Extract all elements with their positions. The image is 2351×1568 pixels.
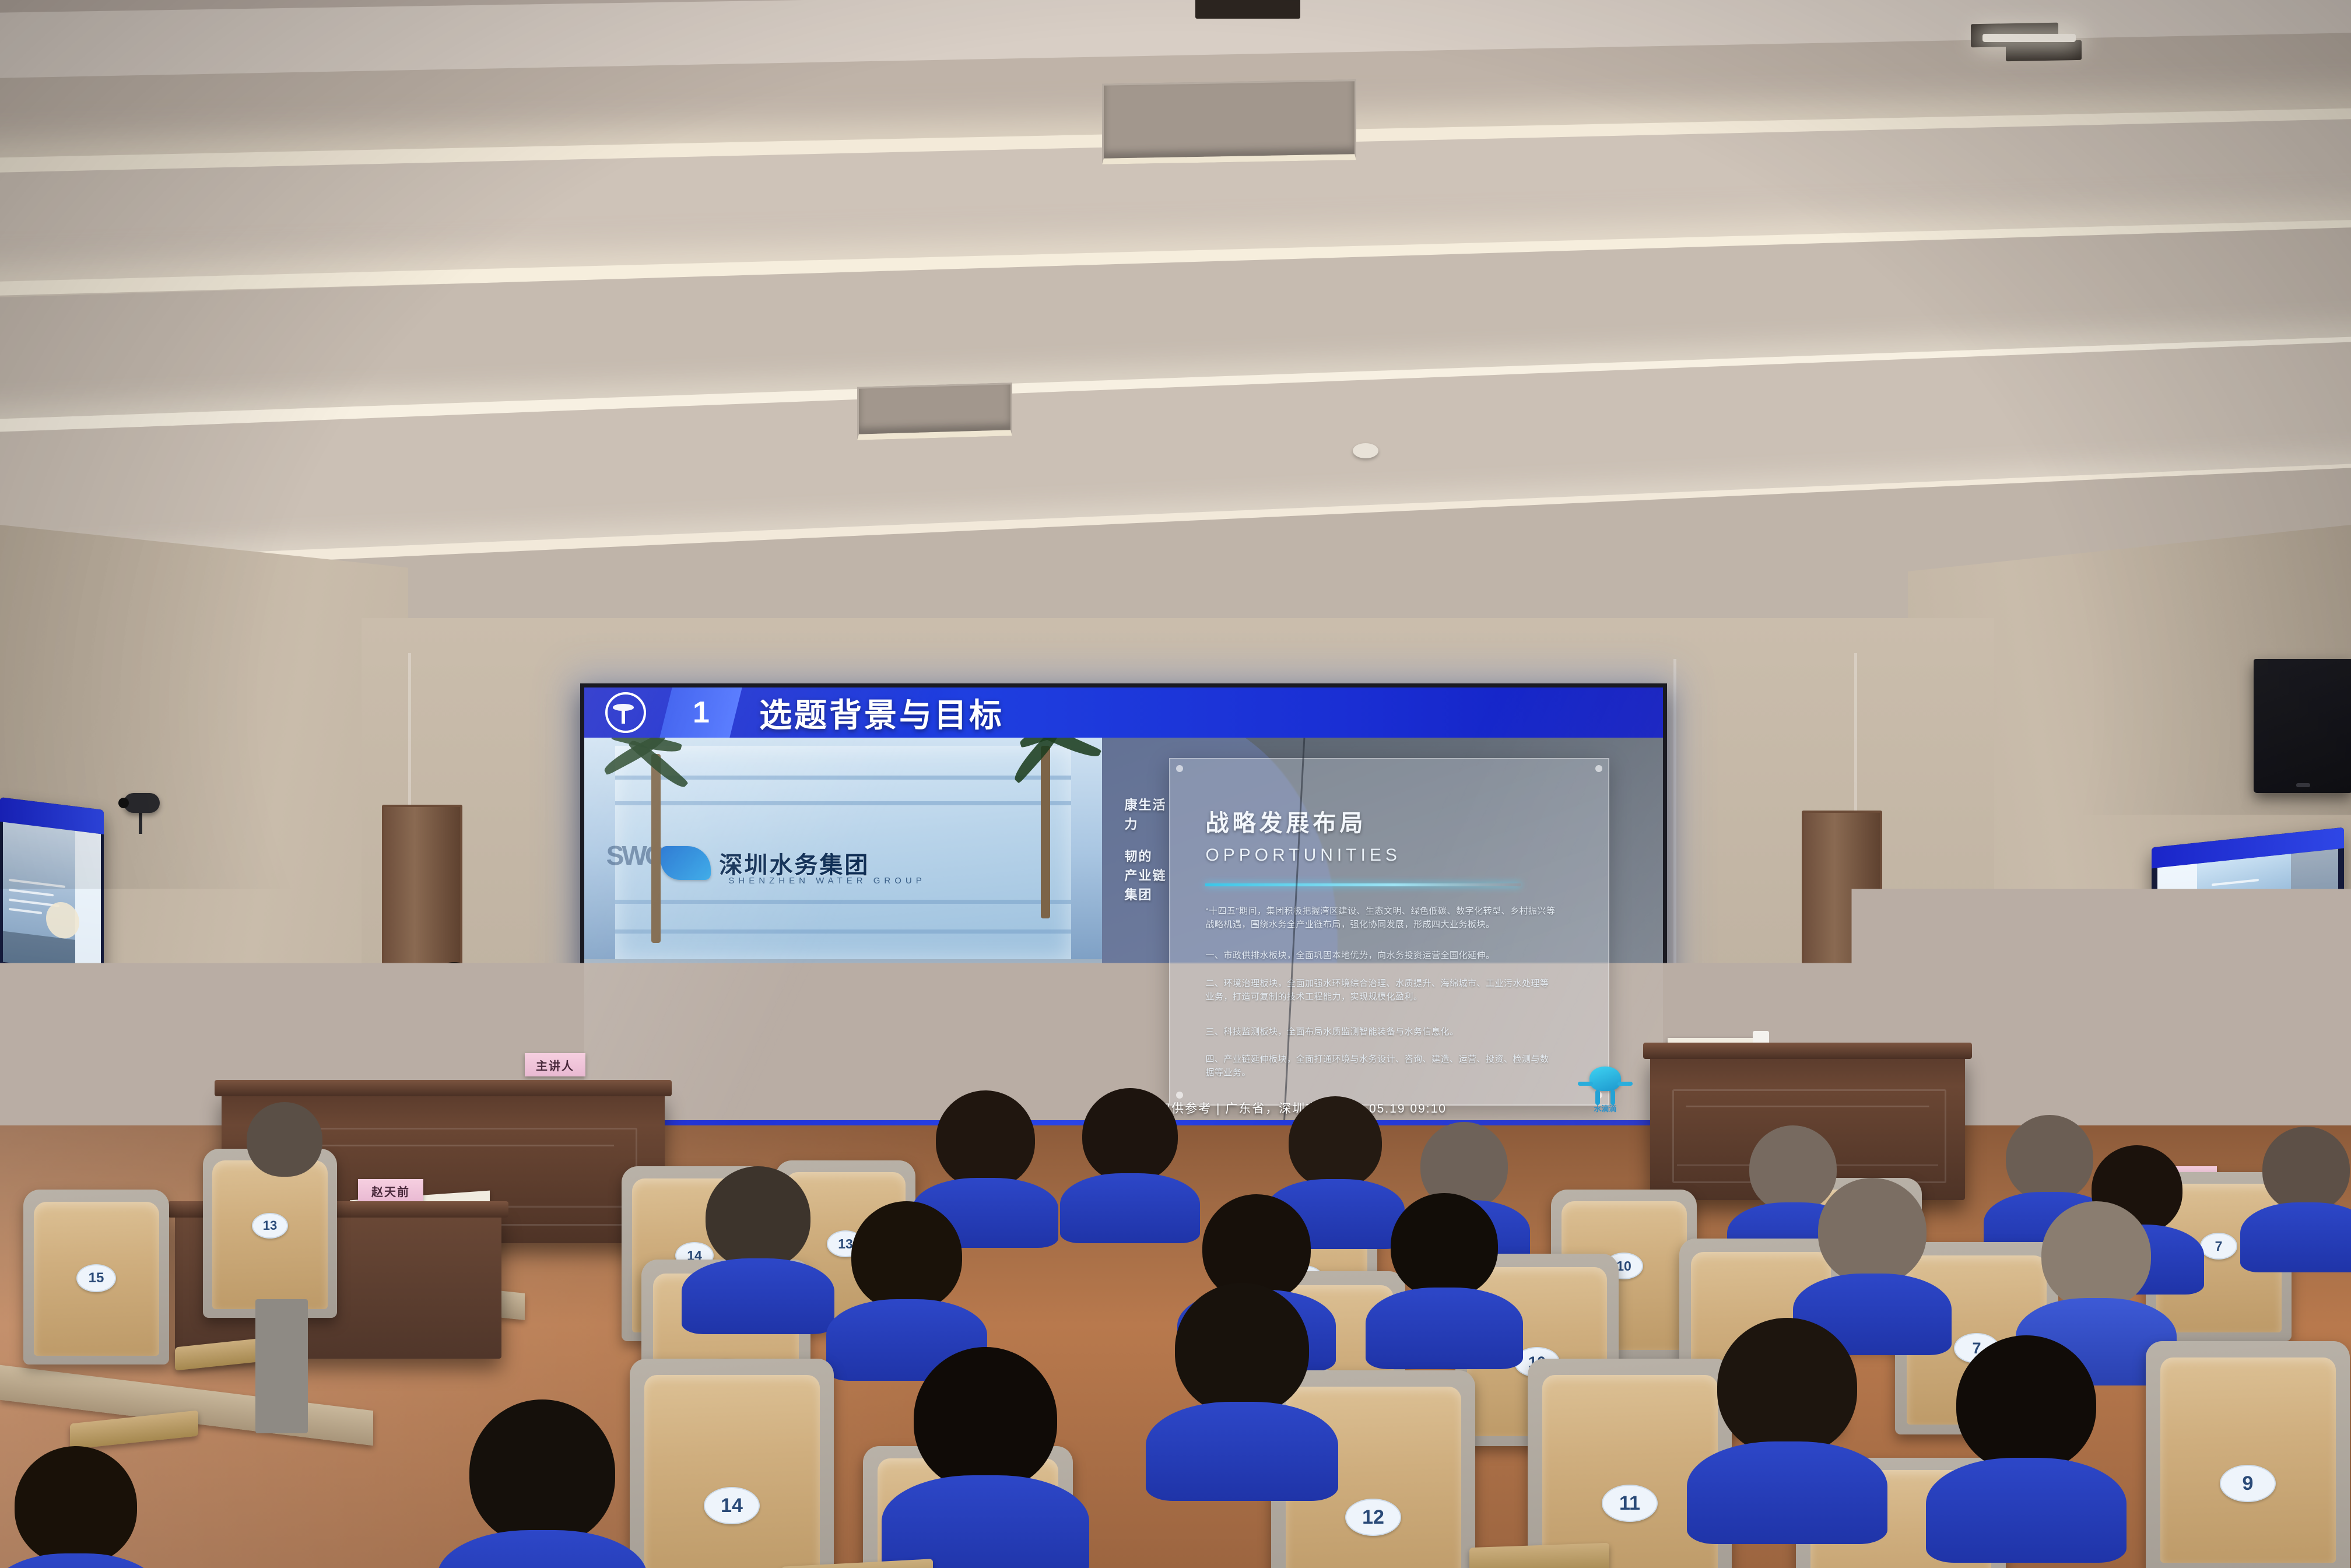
seat-number: 7 (2215, 1239, 2223, 1254)
seat-number: 10 (1616, 1258, 1631, 1274)
slide-content: 1 选题背景与目标 SWG 深圳水务集团 (584, 687, 1663, 1148)
ceiling-vent (857, 383, 1012, 440)
seat-number-badge: 11 (1602, 1485, 1658, 1522)
presenter-name-card: 主讲人 (525, 1053, 585, 1076)
seat-number-badge: 14 (704, 1487, 760, 1524)
building-sign-cn: 深圳水务集团 (719, 846, 869, 880)
seat-number: 14 (721, 1495, 743, 1517)
seat-number: 15 (89, 1270, 104, 1286)
left-wall-monitor[interactable] (0, 797, 104, 985)
attendee-name-card: 赵天前 (358, 1179, 423, 1202)
ceiling-vent (1102, 79, 1356, 164)
building-signage: 深圳水务集团 SHENZHEN WATER GROUP (661, 832, 1025, 896)
ceiling-spotlight (1982, 34, 2076, 42)
strategy-paragraph: 二、环境治理板块，全面加强水环境综合治理、水质提升、海绵城市、工业污水处理等业务… (1205, 977, 1555, 1004)
seat[interactable]: 14 (630, 1359, 834, 1568)
seat-number-badge: 15 (76, 1264, 116, 1292)
attendee (238, 1102, 331, 1219)
slide-section-title: 选题背景与目标 (759, 689, 1004, 736)
ceiling-recess (1195, 0, 1300, 19)
strategy-title-cn: 战略发展布局 (1205, 804, 1366, 838)
seat-number-badge: 7 (2200, 1233, 2237, 1260)
conference-hall-photo: 1 选题背景与目标 SWG 深圳水务集团 (0, 0, 2351, 1568)
building-sign-en: SHENZHEN WATER GROUP (728, 876, 925, 886)
strategy-paragraph: 一、市政供排水板块，全面巩固本地优势，向水务投资运营全国化延伸。 (1205, 949, 1555, 962)
seat-number: 12 (1362, 1506, 1384, 1529)
slide-body: SWG 深圳水务集团 SHENZHEN WATER GROUP (584, 738, 1663, 1148)
attendee (1160, 1283, 1324, 1481)
attendee (1377, 1193, 1511, 1368)
presenter-name-card-text: 主讲人 (536, 1057, 574, 1074)
seat-number: 9 (2243, 1472, 2254, 1495)
smoke-detector (1353, 443, 1378, 458)
seat[interactable]: 15 (23, 1190, 169, 1364)
attendee (694, 1166, 822, 1330)
microphone-head (487, 1025, 498, 1036)
slide-section-number: 1 (693, 695, 710, 730)
seat[interactable]: 9 (2146, 1341, 2350, 1568)
water-drop-logo-icon (661, 846, 711, 880)
ceiling-camera (124, 793, 160, 813)
mascot-label: 水滴滴 (1585, 1103, 1626, 1114)
wall-speaker (2254, 659, 2351, 793)
seat-side-panel (255, 1299, 308, 1433)
armrest (1469, 1543, 1609, 1568)
strategy-paragraph: 四、产业链延伸板块，全面打通环境与水务设计、咨询、建造、运营、投资、检测与数据等… (1205, 1053, 1555, 1080)
seat-number: 11 (1619, 1492, 1640, 1515)
ceiling-recess (2006, 40, 2082, 61)
strategy-plaque: 战略发展布局 OPPORTUNITIES “十四五”期间，集团积极把握湾区建设、… (1169, 758, 1609, 1105)
seat-number: 13 (263, 1218, 277, 1233)
palm-fronds (600, 738, 717, 817)
shenzhen-water-group-logo-icon (605, 692, 646, 733)
right-wall-monitor[interactable] (2152, 827, 2344, 998)
slide-strategy-panel: 康生活 力 韧的 产业链 集团 战略发展布局 OPPORTUNITIES (1102, 738, 1663, 1148)
strategy-paragraph: 三、科技监测板块，全面布局水质监测智能装备与水务信息化。 (1205, 1025, 1555, 1039)
attendee-name-card-text: 赵天前 (371, 1183, 410, 1199)
title-underline (1205, 883, 1520, 886)
attendee (898, 1347, 1073, 1557)
attendee (0, 1446, 152, 1568)
strategy-title-en: OPPORTUNITIES (1205, 846, 1401, 865)
seat-number-badge: 12 (1345, 1499, 1401, 1536)
water-mascot-icon: 水滴滴 (1585, 1067, 1626, 1112)
attendee (1072, 1088, 1188, 1240)
attendee (455, 1399, 630, 1568)
attendee (1831, 1236, 1982, 1429)
attendee (2251, 1127, 2351, 1272)
projection-screen: 1 选题背景与目标 SWG 深圳水务集团 (580, 683, 1667, 1152)
strategy-paragraph: “十四五”期间，集团积极把握湾区建设、生态文明、绿色低碳、数字化转型、乡村振兴等… (1205, 904, 1555, 932)
palm-fronds (985, 738, 1102, 809)
seat-number-badge: 9 (2220, 1465, 2276, 1502)
slide-section-number-badge: 1 (659, 687, 742, 738)
slide-header: 1 选题背景与目标 (584, 687, 1663, 738)
